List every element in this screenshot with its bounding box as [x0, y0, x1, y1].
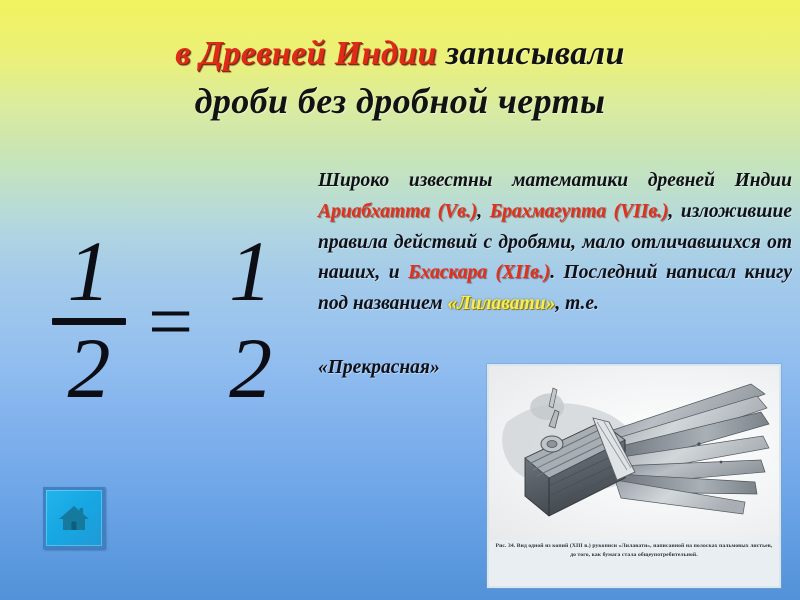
picture-caption: Рис. 34. Вид одной из копий (XIII в.) ру… — [493, 542, 775, 559]
fraction-left-numerator: 1 — [58, 232, 121, 311]
equals-sign: = — [148, 277, 193, 368]
body-seg-3: , — [477, 201, 489, 222]
body-paragraph: Широко известны математики древней Индии… — [318, 166, 792, 320]
fraction-formula: 1 2 = 1 2 — [52, 232, 282, 408]
mathematician-brahmagupta: Брахмагупта (VIIв.) — [490, 201, 669, 222]
fraction-left: 1 2 — [52, 232, 126, 408]
house-icon — [56, 503, 92, 533]
title-line-1: в Древней Индии записывали — [0, 34, 800, 74]
title-line-2: дроби без дробной черты — [0, 80, 800, 122]
body-seg-9: , т.е. — [555, 293, 599, 314]
mathematician-aryabhata: Ариабхатта (Vв.) — [318, 201, 477, 222]
fraction-right: 1 2 — [219, 232, 282, 408]
home-button[interactable] — [43, 487, 105, 549]
body-last-line: «Прекрасная» — [318, 357, 440, 379]
manuscript-picture: Рис. 34. Вид одной из копий (XIII в.) ру… — [487, 364, 781, 588]
manuscript-illustration — [489, 366, 779, 540]
palm-leaf-bundle-drawing — [489, 366, 779, 540]
title-emphasis-red: в Древней Индии — [175, 35, 437, 72]
book-title-lilavati: «Лилавати» — [447, 293, 555, 314]
mathematician-bhaskara: Бхаскара (XIIв.) — [408, 262, 550, 283]
slide-canvas: в Древней Индии записывали дроби без дро… — [0, 0, 800, 600]
body-seg-1: Широко известны математики древней Индии — [318, 170, 792, 191]
fraction-right-denominator: 2 — [219, 329, 282, 408]
fraction-left-denominator: 2 — [58, 329, 121, 408]
fraction-right-numerator: 1 — [219, 232, 282, 311]
page-title: в Древней Индии записывали дроби без дро… — [0, 34, 800, 123]
title-line-1-rest: записывали — [437, 35, 625, 72]
